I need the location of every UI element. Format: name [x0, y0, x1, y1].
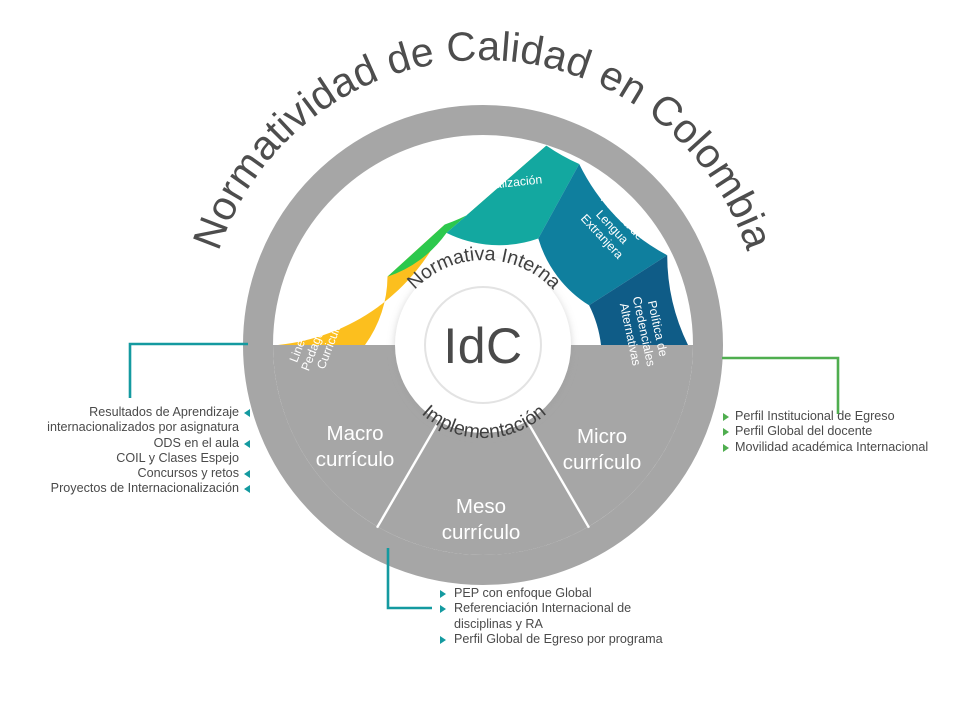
svg-text:currículo: currículo — [563, 451, 642, 474]
arrow-right-icon — [723, 428, 729, 436]
callout-left-item[interactable]: Concursos y retos — [20, 466, 250, 481]
arrow-right-icon — [440, 605, 446, 613]
callout-bottom-item-label: PEP con enfoque Global — [454, 586, 592, 600]
callout-right-item-label: Perfil Global del docente — [735, 424, 872, 438]
leader-line-right — [722, 358, 838, 414]
callout-bottom-item[interactable]: PEP con enfoque Global — [440, 586, 670, 601]
callout-left-item-continuation: internacionalizados por asignatura — [20, 420, 250, 435]
callout-right-list: Perfil Institucional de Egreso Perfil Gl… — [723, 409, 963, 455]
callout-left-list: Resultados de Aprendizaje internacionali… — [20, 405, 250, 497]
callout-left-item[interactable]: COIL y Clases Espejo — [20, 451, 250, 466]
callout-bottom-item-label: Perfil Global de Egreso por programa — [454, 632, 663, 646]
arrow-left-icon — [244, 470, 250, 478]
svg-text:Micro: Micro — [577, 425, 627, 448]
arrow-left-icon — [244, 485, 250, 493]
callout-left-item[interactable]: ODS en el aula — [20, 436, 250, 451]
diagram-canvas: Normatividad de Calidad en Colombia Norm… — [0, 0, 973, 705]
callout-right-item-label: Movilidad académica Internacional — [735, 440, 928, 454]
svg-text:Macro: Macro — [327, 422, 384, 445]
arrow-right-icon — [440, 636, 446, 644]
hub-center-label: IdC — [443, 318, 522, 374]
callout-bottom-item[interactable]: Referenciación Internacional de discipli… — [440, 601, 670, 632]
callout-left-item[interactable]: Proyectos de Internacionalización — [20, 481, 250, 496]
callout-left-item-label: Resultados de Aprendizaje — [89, 405, 239, 419]
callout-left-item-label: Proyectos de Internacionalización — [51, 481, 239, 495]
callout-left-item-label: ODS en el aula — [154, 436, 239, 450]
callout-left-item-label: internacionalizados por asignatura — [47, 420, 239, 434]
arrow-left-icon — [244, 440, 250, 448]
svg-text:Meso: Meso — [456, 495, 506, 518]
svg-text:currículo: currículo — [316, 448, 395, 471]
leader-line-left — [130, 344, 248, 398]
callout-left-item-label: COIL y Clases Espejo — [116, 451, 239, 465]
arrow-left-icon — [244, 409, 250, 417]
callout-right-item-label: Perfil Institucional de Egreso — [735, 409, 895, 423]
callout-right-item[interactable]: Movilidad académica Internacional — [723, 440, 963, 455]
callout-bottom-item[interactable]: Perfil Global de Egreso por programa — [440, 632, 670, 647]
callout-right-item[interactable]: Perfil Institucional de Egreso — [723, 409, 963, 424]
arrow-right-icon — [723, 444, 729, 452]
callout-left-item-label: Concursos y retos — [138, 466, 240, 480]
svg-text:currículo: currículo — [442, 521, 521, 544]
callout-right-item[interactable]: Perfil Global del docente — [723, 424, 963, 439]
arrow-right-icon — [723, 413, 729, 421]
arrow-right-icon — [440, 590, 446, 598]
callout-left-item[interactable]: Resultados de Aprendizaje — [20, 405, 250, 420]
callout-bottom-item-label: Referenciación Internacional de discipli… — [454, 601, 631, 630]
callout-bottom-list: PEP con enfoque Global Referenciación In… — [440, 586, 670, 647]
